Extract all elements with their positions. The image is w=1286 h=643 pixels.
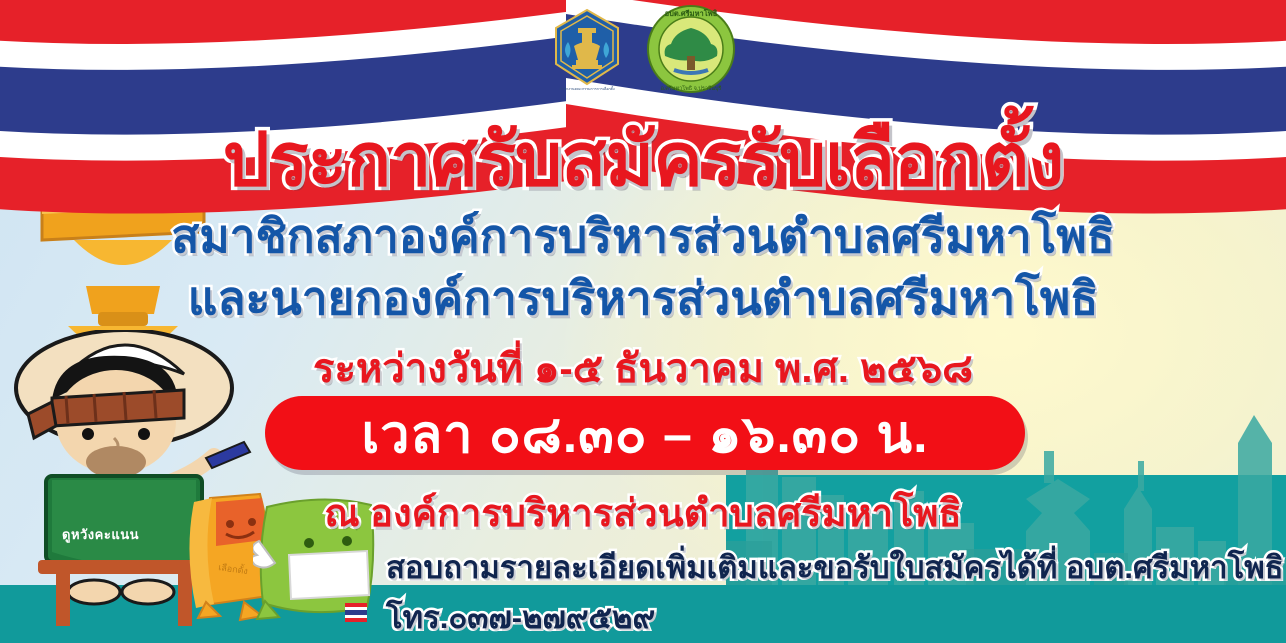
subtitle-chief-executive: และนายกองค์การบริหารส่วนตำบลศรีมหาโพธิ: [188, 262, 1099, 335]
contact-info-line: สอบถามรายละเอียดเพิ่มเติมและขอรับใบสมัคร…: [386, 542, 1284, 592]
registration-venue-line: ณ องค์การบริหารส่วนตำบลศรีมหาโพธิ: [324, 482, 961, 543]
registration-time-badge: เวลา ๐๘.๓๐ – ๑๖.๓๐ น.: [265, 396, 1025, 470]
election-announcement-poster: ดูหวังคะแนน เลือกตั้ง: [0, 0, 1286, 643]
blackboard-label: ดูหวังคะแนน: [62, 524, 139, 545]
registration-time-text: เวลา ๐๘.๓๐ – ๑๖.๓๐ น.: [361, 392, 928, 475]
svg-text:อ.ศรีมหาโพธิ จ.ปราจีนบุรี: อ.ศรีมหาโพธิ จ.ปราจีนบุรี: [661, 84, 722, 92]
svg-text:สำนักงานคณะกรรมการการเลือกตั้ง: สำนักงานคณะกรรมการการเลือกตั้ง: [559, 86, 614, 91]
obt-srimahaphot-seal: อบต.ศรีมหาโพธิ อ.ศรีมหาโพธิ จ.ปราจีนบุรี: [644, 2, 738, 96]
registration-date-line: ระหว่างวันที่ ๑-๕ ธันวาคม พ.ศ. ๒๕๖๘: [313, 336, 973, 400]
phone-number-line: โทร.๐๓๗-๒๗๙๕๒๙: [386, 592, 655, 642]
election-commission-seal: สำนักงานคณะกรรมการการเลือกตั้ง: [548, 6, 626, 92]
svg-text:อบต.ศรีมหาโพธิ: อบต.ศรีมหาโพธิ: [665, 8, 718, 18]
